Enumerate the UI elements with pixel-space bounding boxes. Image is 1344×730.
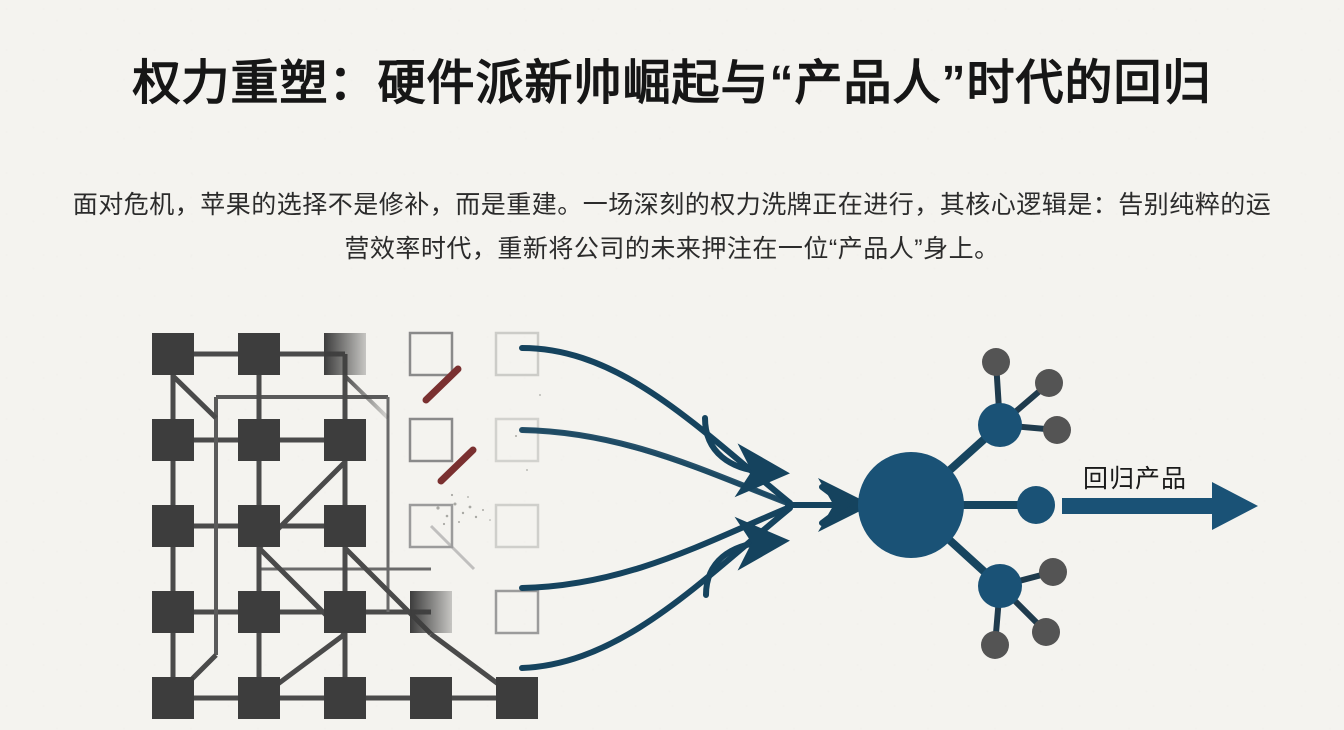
legacy-grid — [152, 333, 541, 719]
grid-node — [238, 333, 280, 375]
satellite-node — [1043, 416, 1071, 444]
grid-node-outline — [496, 419, 538, 461]
network-hub — [858, 452, 964, 558]
outcome-arrow-group: 回归产品 — [1062, 465, 1258, 530]
grid-node — [324, 591, 366, 633]
satellite-node — [982, 348, 1010, 376]
flow-stream — [522, 348, 790, 503]
grid-node — [324, 505, 366, 547]
grid-node — [496, 677, 538, 719]
grid-node — [238, 505, 280, 547]
grid-node — [238, 419, 280, 461]
transformation-diagram: 回归产品 — [0, 300, 1344, 720]
mid-node-center — [1017, 486, 1055, 524]
accent-mark — [441, 450, 473, 481]
grid-node — [238, 677, 280, 719]
grid-node — [410, 591, 452, 633]
grid-node — [152, 591, 194, 633]
product-network — [858, 348, 1071, 659]
curved-arrow-upper — [705, 418, 766, 472]
page-title: 权力重塑：硬件派新帅崛起与“产品人”时代的回归 — [0, 54, 1344, 114]
diagram-container: 回归产品 — [0, 300, 1344, 720]
grid-node-outline — [496, 505, 538, 547]
flow-stream — [522, 507, 790, 588]
satellite-node — [1035, 369, 1063, 397]
satellite-node — [981, 631, 1009, 659]
grid-node — [324, 419, 366, 461]
grid-node-outline — [496, 333, 538, 375]
grid-node — [324, 677, 366, 719]
grid-node — [238, 591, 280, 633]
grid-node — [324, 333, 366, 375]
grid-node — [152, 333, 194, 375]
satellite-node — [1039, 558, 1067, 586]
mid-node-bottom — [978, 564, 1022, 608]
accent-marks — [426, 369, 473, 481]
grid-node — [152, 505, 194, 547]
subtitle-paragraph: 面对危机，苹果的选择不是修补，而是重建。一场深刻的权力洗牌正在进行，其核心逻辑是… — [62, 183, 1282, 271]
outcome-label: 回归产品 — [1083, 465, 1187, 493]
grid-node — [152, 419, 194, 461]
mid-node-top — [978, 403, 1022, 447]
slide-root: 权力重塑：硬件派新帅崛起与“产品人”时代的回归 面对危机，苹果的选择不是修补，而… — [0, 0, 1344, 730]
satellite-node — [1032, 618, 1060, 646]
grid-node — [152, 677, 194, 719]
curved-arrow-lower — [706, 542, 766, 595]
convergence-flow — [512, 348, 848, 668]
grid-node — [410, 677, 452, 719]
